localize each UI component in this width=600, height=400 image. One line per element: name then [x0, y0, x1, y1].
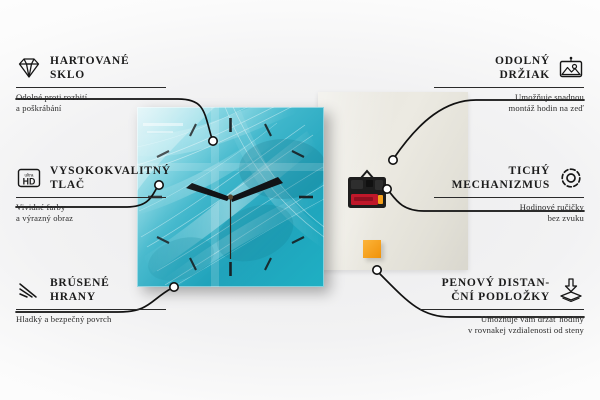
title-line-2: MECHANIZMUS [452, 178, 550, 192]
desc-line-1: Odolné proti rozbití [16, 92, 166, 103]
feature-description: Odolné proti rozbití a poškrábání [16, 92, 166, 114]
title-line-2: ČNÍ PODLOŽKY [442, 290, 550, 304]
feature-description: Umožňuje vám držať hodiny v rovnakej vzd… [420, 314, 584, 336]
divider [16, 309, 166, 310]
desc-line-1: Vividné farby [16, 202, 166, 213]
endpoint-mechanism [383, 185, 391, 193]
diamond-icon [16, 55, 42, 81]
desc-line-1: Umožňuje vám držať hodiny [420, 314, 584, 325]
title-line-1: PENOVÝ DISTAN- [442, 276, 550, 290]
feature-description: Umožňuje snadnou montáž hodin na zeď [434, 92, 584, 114]
desc-line-1: Hladký a bezpečný povrch [16, 314, 166, 325]
feature-foam-spacers: PENOVÝ DISTAN- ČNÍ PODLOŽKY Umožňuje vám… [420, 276, 584, 336]
desc-line-2: a poškrábání [16, 103, 166, 114]
feature-header: TICHÝ MECHANIZMUS [434, 164, 584, 192]
desc-line-1: Umožňuje snadnou [434, 92, 584, 103]
feature-description: Hodinové ručičky bez zvuku [434, 202, 584, 224]
title-line-1: BRÚSENÉ [50, 276, 110, 290]
endpoint-edges [170, 283, 178, 291]
divider [434, 197, 584, 198]
desc-line-2: a výrazný obraz [16, 213, 166, 224]
feature-title: HARTOVANÉ SKLO [50, 54, 129, 82]
divider [16, 87, 166, 88]
title-line-1: ODOLNÝ [495, 54, 550, 68]
feature-title: PENOVÝ DISTAN- ČNÍ PODLOŽKY [442, 276, 550, 304]
feature-description: Hladký a bezpečný povrch [16, 314, 166, 325]
desc-line-2: bez zvuku [434, 213, 584, 224]
title-line-2: SKLO [50, 68, 129, 82]
feature-high-quality-print: ultra HD VYSOKOKVALITNÝ TLAČ Vividné far… [16, 164, 166, 224]
endpoint-foam [373, 266, 381, 274]
feature-silent-mechanism: TICHÝ MECHANIZMUS Hodinové ručičky bez z… [434, 164, 584, 224]
gear-icon [558, 165, 584, 191]
feature-header: BRÚSENÉ HRANY [16, 276, 166, 304]
endpoint-glass [209, 137, 217, 145]
ground-edges-icon [16, 277, 42, 303]
divider [420, 309, 584, 310]
hd-label: HD [23, 176, 36, 186]
feature-title: TICHÝ MECHANIZMUS [452, 164, 550, 192]
feature-ground-edges: BRÚSENÉ HRANY Hladký a bezpečný povrch [16, 276, 166, 325]
feature-tempered-glass: HARTOVANÉ SKLO Odolné proti rozbití a po… [16, 54, 166, 114]
feature-header: HARTOVANÉ SKLO [16, 54, 166, 82]
title-line-1: TICHÝ [452, 164, 550, 178]
title-line-2: HRANY [50, 290, 110, 304]
feature-durable-hanger: ODOLNÝ DRŽIAK Umožňuje snadnou montáž ho… [434, 54, 584, 114]
picture-hanger-icon [558, 55, 584, 81]
feature-title: VYSOKOKVALITNÝ TLAČ [50, 164, 171, 192]
feature-header: PENOVÝ DISTAN- ČNÍ PODLOŽKY [420, 276, 584, 304]
title-line-2: TLAČ [50, 178, 171, 192]
infographic-canvas: HARTOVANÉ SKLO Odolné proti rozbití a po… [0, 0, 600, 400]
feature-title: ODOLNÝ DRŽIAK [495, 54, 550, 82]
title-line-1: HARTOVANÉ [50, 54, 129, 68]
feature-header: ultra HD VYSOKOKVALITNÝ TLAČ [16, 164, 166, 192]
feature-description: Vividné farby a výrazný obraz [16, 202, 166, 224]
endpoint-hanger [389, 156, 397, 164]
title-line-1: VYSOKOKVALITNÝ [50, 164, 171, 178]
ultra-hd-icon: ultra HD [16, 165, 42, 191]
title-line-2: DRŽIAK [495, 68, 550, 82]
foam-spacer-icon [558, 277, 584, 303]
feature-title: BRÚSENÉ HRANY [50, 276, 110, 304]
divider [16, 197, 166, 198]
desc-line-1: Hodinové ručičky [434, 202, 584, 213]
divider [434, 87, 584, 88]
desc-line-2: v rovnakej vzdialenosti od steny [420, 325, 584, 336]
desc-line-2: montáž hodin na zeď [434, 103, 584, 114]
feature-header: ODOLNÝ DRŽIAK [434, 54, 584, 82]
